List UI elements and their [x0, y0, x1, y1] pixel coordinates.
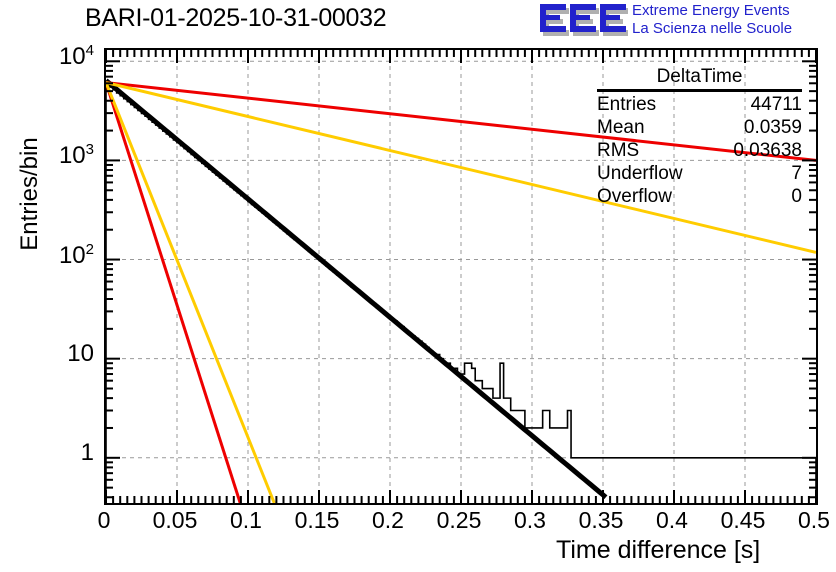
- eee-logo-line1: Extreme Energy Events: [632, 2, 792, 20]
- x-tick-label: 0.15: [277, 507, 357, 534]
- x-tick-label: 0: [64, 507, 144, 534]
- stats-value: 44711: [751, 93, 802, 116]
- stats-value: 0.03638: [733, 139, 802, 162]
- stats-row: Overflow0: [597, 185, 802, 208]
- eee-mark-icon: [540, 4, 628, 38]
- y-tick-label: 1: [14, 439, 94, 467]
- eee-logo-text: Extreme Energy Events La Scienza nelle S…: [632, 2, 792, 38]
- stats-key: Overflow: [597, 185, 672, 208]
- x-tick-label: 0.4: [632, 507, 712, 534]
- x-tick-label: 0.3: [490, 507, 570, 534]
- stats-value: 0: [791, 185, 802, 208]
- x-tick-label: 0.45: [703, 507, 783, 534]
- stats-rows: Entries44711Mean0.0359RMS0.03638Underflo…: [597, 93, 802, 208]
- stats-value: 0.0359: [744, 116, 802, 139]
- x-tick-label: 0.1: [206, 507, 286, 534]
- stats-value: 7: [791, 162, 802, 185]
- stats-key: Entries: [597, 93, 656, 116]
- stats-key: RMS: [597, 139, 639, 162]
- y-tick-label: 102: [14, 241, 94, 270]
- stats-row: Entries44711: [597, 93, 802, 116]
- x-axis-title: Time difference [s]: [556, 536, 760, 565]
- eee-logo: Extreme Energy Events La Scienza nelle S…: [540, 2, 836, 42]
- x-tick-label: 0.5: [774, 507, 836, 534]
- stats-key: Mean: [597, 116, 645, 139]
- page-title: BARI-01-2025-10-31-00032: [85, 4, 386, 33]
- stats-row: Underflow7: [597, 162, 802, 185]
- stats-divider: [597, 89, 802, 92]
- chart-root: BARI-01-2025-10-31-00032 Extreme Energy …: [0, 0, 836, 572]
- x-tick-label: 0.25: [419, 507, 499, 534]
- stats-row: Mean0.0359: [597, 116, 802, 139]
- x-tick-label: 0.05: [135, 507, 215, 534]
- y-tick-label: 104: [14, 42, 94, 71]
- eee-logo-line2: La Scienza nelle Scuole: [632, 20, 792, 38]
- stats-title: DeltaTime: [597, 66, 802, 89]
- x-tick-label: 0.2: [348, 507, 428, 534]
- x-tick-label: 0.35: [561, 507, 641, 534]
- y-tick-label: 10: [14, 340, 94, 368]
- stats-key: Underflow: [597, 162, 683, 185]
- stats-box: DeltaTime Entries44711Mean0.0359RMS0.036…: [597, 66, 802, 208]
- y-tick-label: 103: [14, 141, 94, 170]
- stats-row: RMS0.03638: [597, 139, 802, 162]
